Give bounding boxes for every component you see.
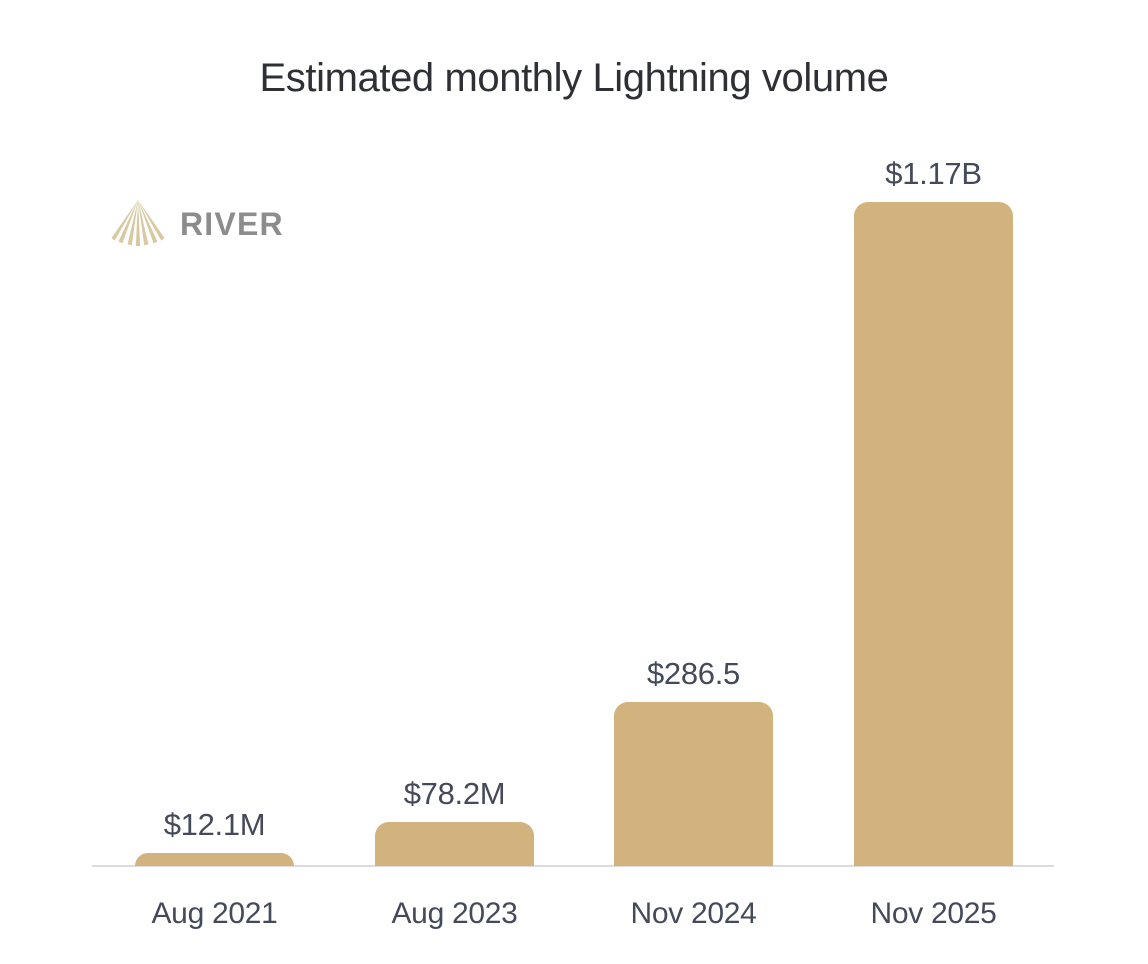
- bar-value-label: $1.17B: [814, 156, 1053, 192]
- category-label: Nov 2024: [574, 897, 813, 931]
- bar-value-label: $78.2M: [335, 776, 574, 812]
- category-label: Nov 2025: [814, 897, 1053, 931]
- bar[interactable]: [135, 853, 294, 866]
- bar[interactable]: [614, 702, 773, 866]
- plot-area: $12.1M Aug 2021 $78.2M Aug 2023 $286.5 N…: [0, 0, 1148, 964]
- bar-value-label: $12.1M: [95, 807, 334, 843]
- chart-container: Estimated monthly Lightning volume RIVER…: [0, 0, 1148, 964]
- bar-value-label: $286.5: [574, 656, 813, 692]
- bar[interactable]: [854, 202, 1013, 866]
- category-label: Aug 2021: [95, 897, 334, 931]
- bar[interactable]: [375, 822, 534, 866]
- category-label: Aug 2023: [335, 897, 574, 931]
